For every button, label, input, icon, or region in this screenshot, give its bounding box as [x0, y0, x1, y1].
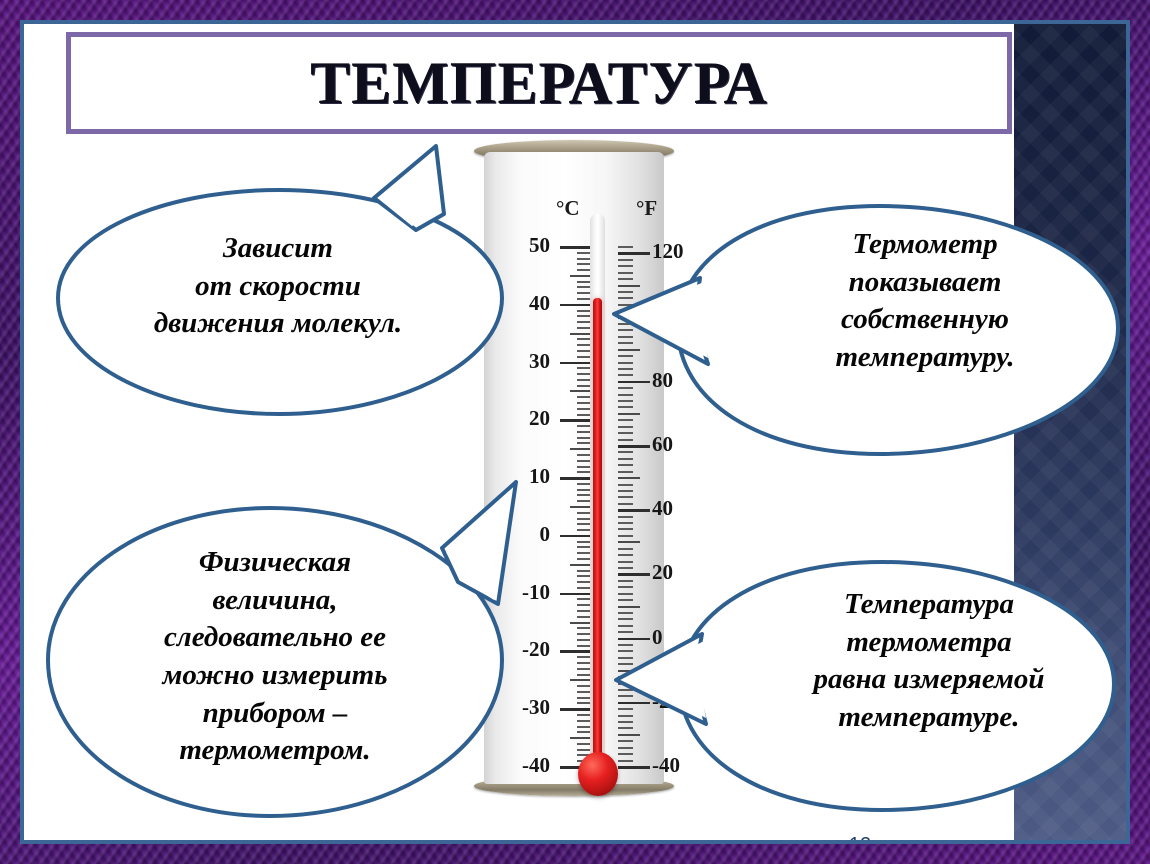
- fahrenheit-scale-label: 40: [652, 498, 673, 519]
- page-number: 12: [834, 834, 886, 840]
- celsius-scale-label: 50: [529, 235, 550, 256]
- fahrenheit-tick: [618, 484, 633, 486]
- thermometer-bulb: [578, 752, 618, 796]
- fahrenheit-tick: [618, 471, 633, 473]
- celsius-tick: [560, 477, 592, 480]
- celsius-scale-label: -10: [522, 582, 550, 603]
- page-title: ТЕМПЕРАТУРА: [310, 49, 768, 118]
- celsius-unit-label: °C: [556, 196, 580, 221]
- celsius-tick: [570, 622, 592, 624]
- fahrenheit-tick: [618, 528, 633, 530]
- slide-canvas: ТЕМПЕРАТУРА °C °F 50403020100-10-20-30-4…: [24, 24, 1126, 840]
- celsius-tick: [570, 679, 592, 681]
- celsius-scale-label: 0: [540, 524, 551, 545]
- fahrenheit-tick: [618, 535, 633, 537]
- speech-bubble-bottom-left[interactable]: Физическаявеличина,следовательно ееможно…: [38, 496, 518, 828]
- celsius-tick: [560, 535, 592, 538]
- celsius-tick: [570, 737, 592, 739]
- fahrenheit-tick: [618, 477, 640, 479]
- celsius-scale-label: 30: [529, 351, 550, 372]
- celsius-tick: [570, 564, 592, 566]
- fahrenheit-tick: [618, 509, 650, 512]
- fahrenheit-tick: [618, 490, 633, 492]
- celsius-tick: [560, 246, 592, 249]
- celsius-tick: [570, 275, 592, 277]
- celsius-tick: [560, 708, 592, 711]
- celsius-tick: [570, 333, 592, 335]
- title-box: ТЕМПЕРАТУРА: [66, 32, 1012, 134]
- celsius-tick: [560, 593, 592, 596]
- fahrenheit-tick: [618, 503, 633, 505]
- celsius-scale-label: 40: [529, 293, 550, 314]
- celsius-tick: [560, 650, 592, 653]
- fahrenheit-tick: [618, 516, 633, 518]
- fahrenheit-tick: [618, 522, 633, 524]
- speech-bubble-bottom-right[interactable]: Температуратермометраравна измеряемойтем…: [620, 552, 1126, 822]
- speech-bubble-top-right[interactable]: Термометрпоказываетсобственнуютемператур…: [612, 194, 1126, 466]
- celsius-tick: [570, 506, 592, 508]
- fahrenheit-tick: [618, 541, 640, 543]
- celsius-tick: [570, 448, 592, 450]
- celsius-tick: [560, 419, 592, 422]
- celsius-tick: [570, 390, 592, 392]
- celsius-tick: [560, 362, 592, 365]
- celsius-scale-label: -30: [522, 697, 550, 718]
- celsius-tick-column: [560, 246, 592, 766]
- celsius-scale-label: 20: [529, 408, 550, 429]
- mercury-column: [593, 298, 602, 756]
- celsius-scale-label: -20: [522, 639, 550, 660]
- speech-bubble-top-left[interactable]: Зависитот скоростидвижения молекул.: [44, 176, 514, 426]
- celsius-tick: [560, 304, 592, 307]
- celsius-scale-label: -40: [522, 755, 550, 776]
- celsius-scale-label: 10: [529, 466, 550, 487]
- slide-frame: ТЕМПЕРАТУРА °C °F 50403020100-10-20-30-4…: [0, 0, 1150, 864]
- fahrenheit-tick: [618, 496, 633, 498]
- fahrenheit-tick: [618, 548, 633, 550]
